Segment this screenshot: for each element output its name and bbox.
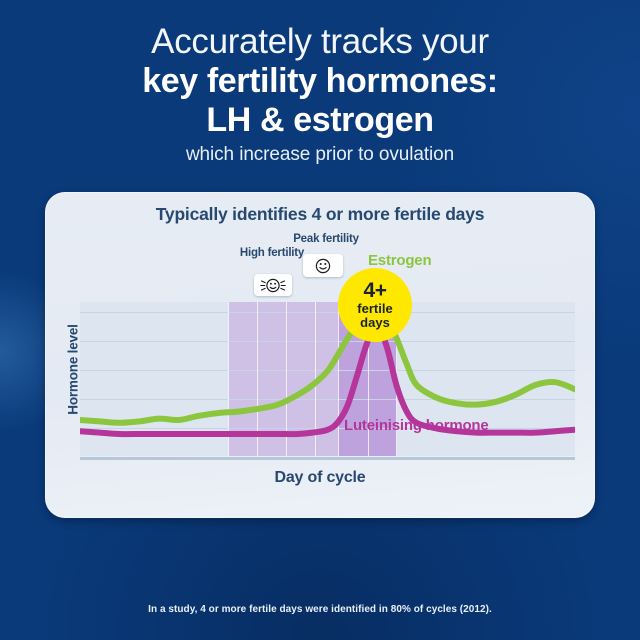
hormone-curves bbox=[80, 302, 575, 456]
flashing-smiley-icon bbox=[254, 274, 292, 296]
chart-card-title: Typically identifies 4 or more fertile d… bbox=[45, 204, 595, 225]
y-axis-label: Hormone level bbox=[66, 310, 81, 430]
estrogen-curve bbox=[80, 312, 575, 423]
x-axis-label: Day of cycle bbox=[45, 469, 595, 487]
badge-word-fertile: fertile bbox=[357, 302, 392, 316]
headline-block: Accurately tracks your key fertility hor… bbox=[0, 22, 640, 170]
footnote-text: In a study, 4 or more fertile days were … bbox=[0, 604, 640, 615]
legend-estrogen: Estrogen bbox=[368, 252, 431, 269]
badge-count: 4+ bbox=[364, 280, 387, 301]
chart-card: Typically identifies 4 or more fertile d… bbox=[45, 192, 595, 518]
headline-subtitle: which increase prior to ovulation bbox=[0, 140, 640, 170]
fertile-days-badge: 4+ fertile days bbox=[338, 268, 412, 342]
smiley-icon bbox=[303, 254, 343, 277]
x-axis-line bbox=[80, 457, 575, 460]
badge-word-days: days bbox=[360, 316, 390, 330]
legend-luteinising-hormone: Luteinising hormone bbox=[344, 417, 489, 434]
label-peak-fertility: Peak fertility bbox=[287, 233, 365, 246]
headline-line-3: LH & estrogen bbox=[0, 100, 640, 140]
label-high-fertility: High fertility bbox=[233, 247, 311, 260]
headline-line-2: key fertility hormones: bbox=[0, 62, 640, 100]
chart-plot-area bbox=[80, 302, 575, 456]
headline-line-1: Accurately tracks your bbox=[0, 22, 640, 62]
